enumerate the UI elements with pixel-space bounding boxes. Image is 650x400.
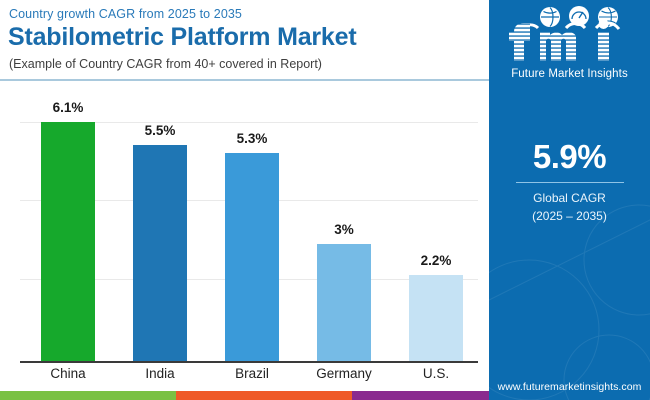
page-title: Stabilometric Platform Market — [8, 23, 356, 52]
bar-us[interactable] — [409, 275, 463, 362]
cagr-divider — [516, 182, 624, 183]
bar-value-label: 5.5% — [116, 123, 204, 138]
bar-china[interactable] — [41, 122, 95, 362]
infographic-root: Country growth CAGR from 2025 to 2035 St… — [0, 0, 650, 400]
fmi-logo-tagline: Future Market Insights — [489, 68, 650, 80]
bars-layer: 6.1%5.5%5.3%3%2.2% — [0, 90, 489, 362]
bar-group: 2.2% — [392, 90, 480, 362]
global-cagr-block: 5.9% Global CAGR (2025 – 2035) — [489, 140, 650, 225]
brand-panel: Future Market Insights 5.9% Global CAGR … — [489, 0, 650, 400]
x-label-germany: Germany — [300, 366, 388, 381]
website-url[interactable]: www.futuremarketinsights.com — [489, 381, 650, 393]
bar-value-label: 3% — [300, 222, 388, 237]
bar-group: 6.1% — [24, 90, 112, 362]
orange-segment — [176, 391, 352, 400]
globe-icon — [540, 7, 560, 27]
global-cagr-value: 5.9% — [489, 140, 650, 173]
global-cagr-label-line1: Global CAGR — [489, 190, 650, 207]
x-label-us: U.S. — [392, 366, 480, 381]
bar-value-label: 6.1% — [24, 100, 112, 115]
bar-chart-plot: 6.1%5.5%5.3%3%2.2% — [0, 90, 489, 365]
chart-eyebrow: Country growth CAGR from 2025 to 2035 — [9, 7, 242, 21]
bar-value-label: 5.3% — [208, 131, 296, 146]
bar-india[interactable] — [133, 145, 187, 362]
purple-segment — [352, 391, 489, 400]
bar-group: 5.5% — [116, 90, 204, 362]
x-axis-line — [20, 361, 478, 363]
header-divider — [0, 79, 489, 81]
bar-group: 5.3% — [208, 90, 296, 362]
chart-panel: Country growth CAGR from 2025 to 2035 St… — [0, 0, 489, 400]
bar-germany[interactable] — [317, 244, 371, 362]
bar-value-label: 2.2% — [392, 253, 480, 268]
bar-group: 3% — [300, 90, 388, 362]
fmi-logo[interactable]: Future Market Insights — [489, 6, 650, 80]
x-label-india: India — [116, 366, 204, 381]
x-axis-labels: ChinaIndiaBrazilGermanyU.S. — [0, 366, 489, 392]
fmi-logo-mark — [504, 6, 636, 62]
chart-subtitle: (Example of Country CAGR from 40+ covere… — [9, 57, 322, 71]
global-cagr-label: Global CAGR (2025 – 2035) — [489, 190, 650, 225]
x-label-china: China — [24, 366, 112, 381]
green-segment — [0, 391, 176, 400]
x-label-brazil: Brazil — [208, 366, 296, 381]
bar-brazil[interactable] — [225, 153, 279, 362]
global-cagr-label-line2: (2025 – 2035) — [489, 208, 650, 225]
